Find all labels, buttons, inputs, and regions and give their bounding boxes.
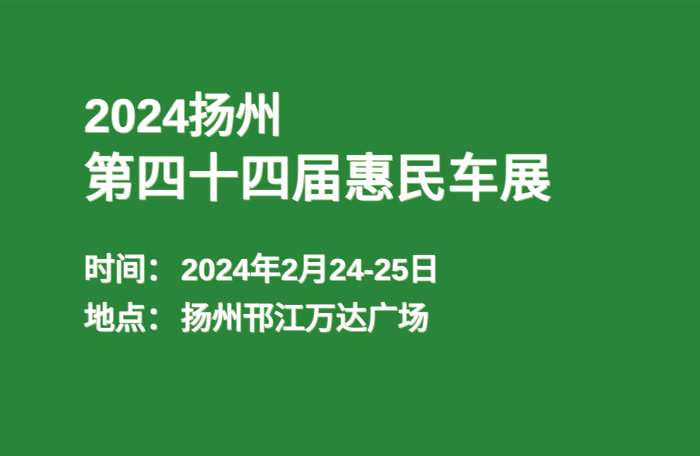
time-label: 时间： <box>84 254 177 285</box>
location-label: 地点： <box>84 303 177 334</box>
title-line-2: 第四十四届惠民车展 <box>84 153 552 204</box>
detail-row-location: 地点： 扬州邗江万达广场 <box>84 303 440 334</box>
event-poster: 2024扬州 第四十四届惠民车展 时间： 2024年2月24-25日 地点： 扬… <box>0 0 700 456</box>
location-value: 扬州邗江万达广场 <box>181 303 429 334</box>
poster-content: 2024扬州 第四十四届惠民车展 时间： 2024年2月24-25日 地点： 扬… <box>84 0 700 456</box>
title-line-1: 2024扬州 <box>84 92 552 139</box>
detail-row-time: 时间： 2024年2月24-25日 <box>84 254 440 285</box>
poster-title: 2024扬州 第四十四届惠民车展 <box>84 92 552 204</box>
poster-details: 时间： 2024年2月24-25日 地点： 扬州邗江万达广场 <box>84 254 440 334</box>
time-value: 2024年2月24-25日 <box>181 254 440 285</box>
